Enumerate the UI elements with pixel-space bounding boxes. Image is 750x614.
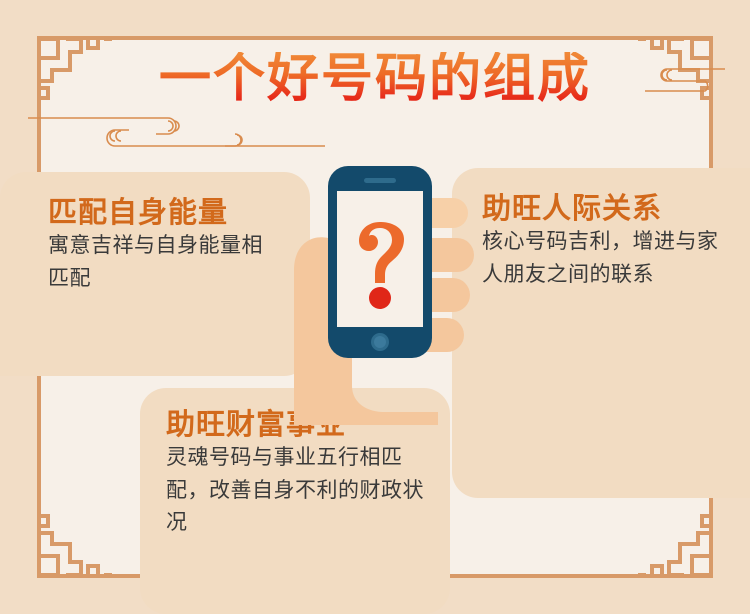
page-title: 一个好号码的组成 (0, 52, 750, 108)
corner-ornament-bottom-left-icon (26, 502, 112, 588)
card-body: 灵魂号码与事业五行相匹配，改善自身不利的财政状况 (166, 442, 426, 540)
card-heading: 匹配自身能量 (48, 198, 284, 230)
frame-line-top (37, 36, 713, 40)
hand-holding-phone-illustration (288, 150, 498, 425)
phone-speaker (364, 178, 396, 183)
poster-root: 一个好号码的组成 匹配自身能量 寓意吉祥与自身能量相匹配 助旺人际关系 核心号码… (0, 0, 750, 614)
card-body: 寓意吉祥与自身能量相匹配 (48, 230, 284, 296)
card-heading: 助旺人际关系 (482, 194, 724, 226)
card-body: 核心号码吉利，增进与家人朋友之间的联系 (482, 226, 724, 292)
card-match-energy: 匹配自身能量 寓意吉祥与自身能量相匹配 (0, 172, 310, 376)
corner-ornament-bottom-right-icon (638, 502, 724, 588)
question-mark-dot (369, 287, 391, 309)
